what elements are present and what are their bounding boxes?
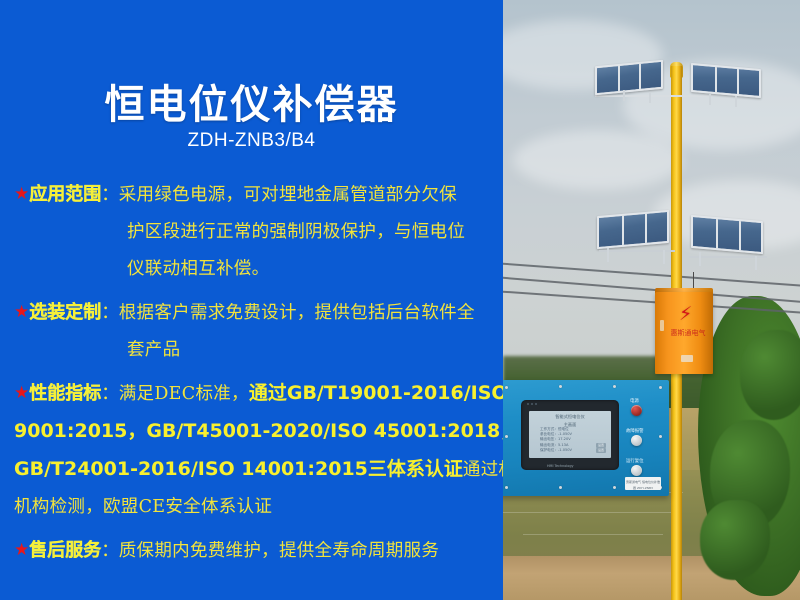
bullet-after-sales: ★售后服务：质保期内免费维护，提供全寿命周期服务: [14, 532, 494, 570]
panel-strut: [735, 96, 737, 107]
star-icon: ★: [14, 302, 29, 322]
solar-panel-lower-right: [691, 215, 763, 254]
bullet-text: 护区段进行正常的强制阴极保护，与恒电位: [127, 222, 465, 242]
box-plate: [681, 355, 693, 362]
bullet-text: 满足DEC标准，: [119, 384, 249, 404]
product-photo: ⚡ 惠斯通电气 智能式恒电位仪 主画面 工作方式：恒电位 参比电位：-1.050…: [503, 0, 800, 600]
hmi-title: 智能式恒电位仪: [529, 414, 611, 419]
bullet-line: 机构检测，欧盟CE安全体系认证: [14, 489, 494, 526]
cell-divider: [716, 219, 718, 248]
solar-panel-lower-left: [597, 210, 669, 249]
bullet-label: 选装定制: [29, 302, 101, 323]
bullet-text: 质保期内免费维护，提供全寿命周期服务: [119, 541, 439, 561]
hmi-row-text: 输出电压：17.20V: [540, 437, 571, 441]
panel-screw: [505, 486, 508, 489]
feature-bullet-list: ★应用范围：采用绿色电源，可对埋地金属管道部分欠保 护区段进行正常的强制阴极保护…: [14, 176, 494, 576]
solar-panel-upper-right: [691, 63, 761, 98]
button-label-reset: 运行复位: [626, 458, 644, 464]
bullet-colon: ：: [101, 185, 119, 205]
cell-divider: [739, 221, 741, 250]
bullet-text: 套产品: [127, 340, 180, 360]
standard-text: GB/T24001-2016/ISO 14001:2015三体系认证: [14, 458, 463, 480]
bullet-colon: ：: [101, 303, 119, 323]
panel-strut: [649, 92, 651, 103]
lightning-bolt-icon: ⚡: [679, 305, 692, 324]
bullet-label: 性能指标: [29, 383, 101, 404]
alarm-indicator-button[interactable]: [631, 435, 642, 446]
panel-brace: [595, 95, 713, 97]
cell-divider: [645, 214, 647, 243]
grass-texture: [523, 534, 663, 535]
bullet-performance-specs: ★性能指标：满足DEC标准，通过GB/T19001-2016/ISO 9001:…: [14, 375, 494, 526]
bullet-colon: ：: [101, 541, 119, 561]
hmi-row-text: 工作方式：恒电位: [540, 427, 569, 431]
bullet-line: ★性能指标：满足DEC标准，通过GB/T19001-2016/ISO: [14, 375, 494, 413]
hmi-bezel: 智能式恒电位仪 主画面 工作方式：恒电位 参比电位：-1.050V 输出电压：1…: [521, 400, 619, 470]
bullet-line: 9001:2015，GB/T45001-2020/ISO 45001:2018，: [14, 413, 494, 451]
hmi-brand: HMI Technology: [547, 464, 574, 468]
cloud: [513, 130, 683, 190]
panel-screw: [659, 386, 662, 389]
panel-screw: [613, 486, 616, 489]
star-icon: ★: [14, 383, 29, 403]
standard-text: 通过GB/T19001-2016/ISO: [249, 382, 508, 404]
bullet-line: ★选装定制：根据客户需求免费设计，提供包括后台软件全: [14, 294, 494, 332]
panel-screw: [505, 386, 508, 389]
hmi-row-button[interactable]: 设置: [596, 448, 606, 453]
bush: [740, 330, 800, 420]
button-label-alarm: 故障报警: [626, 428, 644, 434]
bullet-colon: ：: [101, 384, 119, 404]
page-title: 恒电位仪补偿器: [0, 72, 503, 130]
bullet-line: 仪联动相互补偿。: [14, 251, 494, 288]
button-label-power: 电源: [630, 398, 639, 404]
panel-screw: [613, 385, 616, 388]
junction-box: ⚡ 惠斯通电气: [655, 292, 713, 374]
hmi-status-leds: [527, 403, 537, 405]
bullet-text: 根据客户需求免费设计，提供包括后台软件全: [119, 303, 475, 323]
panel-screw: [505, 435, 508, 438]
bullet-text: 采用绿色电源，可对埋地金属管道部分欠保: [119, 185, 457, 205]
panel-screw: [559, 385, 562, 388]
bullet-line: 护区段进行正常的强制阴极保护，与恒电位: [14, 214, 494, 251]
cell-divider: [737, 69, 739, 94]
junction-box-brand: 惠斯通电气: [668, 329, 708, 337]
hmi-row-text: 参比电位：-1.050V: [540, 432, 572, 436]
panel-strut: [699, 252, 701, 266]
panel-screw: [659, 435, 662, 438]
panel-strut: [709, 94, 711, 105]
panel-strut: [623, 90, 625, 101]
cell-divider: [622, 216, 624, 245]
control-panel: 智能式恒电位仪 主画面 工作方式：恒电位 参比电位：-1.050V 输出电压：1…: [503, 380, 669, 496]
model-subtitle: ZDH-ZNB3/B4: [0, 130, 503, 152]
bullet-text: 仪联动相互补偿。: [127, 259, 269, 279]
bullet-line: ★售后服务：质保期内免费维护，提供全寿命周期服务: [14, 532, 494, 570]
box-latch: [660, 320, 664, 331]
hmi-row-text: 输出电流：5.13A: [540, 443, 568, 447]
standard-text: 9001:2015，GB/T45001-2020/ISO 45001:2018，: [14, 420, 519, 442]
hmi-row-text: 保护电位：-1.050V: [540, 448, 572, 452]
hmi-row: 保护电位：-1.050V设置: [529, 448, 611, 453]
bullet-label: 应用范围: [29, 184, 101, 205]
bullet-line: ★应用范围：采用绿色电源，可对埋地金属管道部分欠保: [14, 176, 494, 214]
cell-divider: [715, 67, 717, 92]
reset-button[interactable]: [631, 465, 642, 476]
panel-nameplate: 惠斯通电气 恒电位仪补偿器 ZDH-ZNB3: [625, 477, 661, 490]
cell-divider: [618, 66, 620, 91]
grass-texture: [503, 512, 673, 513]
cell-divider: [639, 64, 641, 89]
panel-screw: [559, 486, 562, 489]
bullet-line: GB/T24001-2016/ISO 14001:2015三体系认证通过权威: [14, 451, 494, 489]
panel-strut: [607, 248, 609, 262]
bullet-label: 售后服务: [29, 540, 101, 561]
power-indicator-button[interactable]: [631, 405, 642, 416]
star-icon: ★: [14, 540, 29, 560]
bullet-custom-options: ★选装定制：根据客户需求免费设计，提供包括后台软件全 套产品: [14, 294, 494, 369]
panel-strut: [755, 256, 757, 270]
hmi-screen[interactable]: 智能式恒电位仪 主画面 工作方式：恒电位 参比电位：-1.050V 输出电压：1…: [529, 411, 611, 458]
bullet-text: 机构检测，欧盟CE安全体系认证: [14, 497, 272, 517]
bullet-application-scope: ★应用范围：采用绿色电源，可对埋地金属管道部分欠保 护区段进行正常的强制阴极保护…: [14, 176, 494, 288]
text-column: 恒电位仪补偿器 ZDH-ZNB3/B4 ★应用范围：采用绿色电源，可对埋地金属管…: [0, 0, 503, 600]
bullet-line: 套产品: [14, 332, 494, 369]
panel-strut: [663, 250, 665, 264]
star-icon: ★: [14, 184, 29, 204]
